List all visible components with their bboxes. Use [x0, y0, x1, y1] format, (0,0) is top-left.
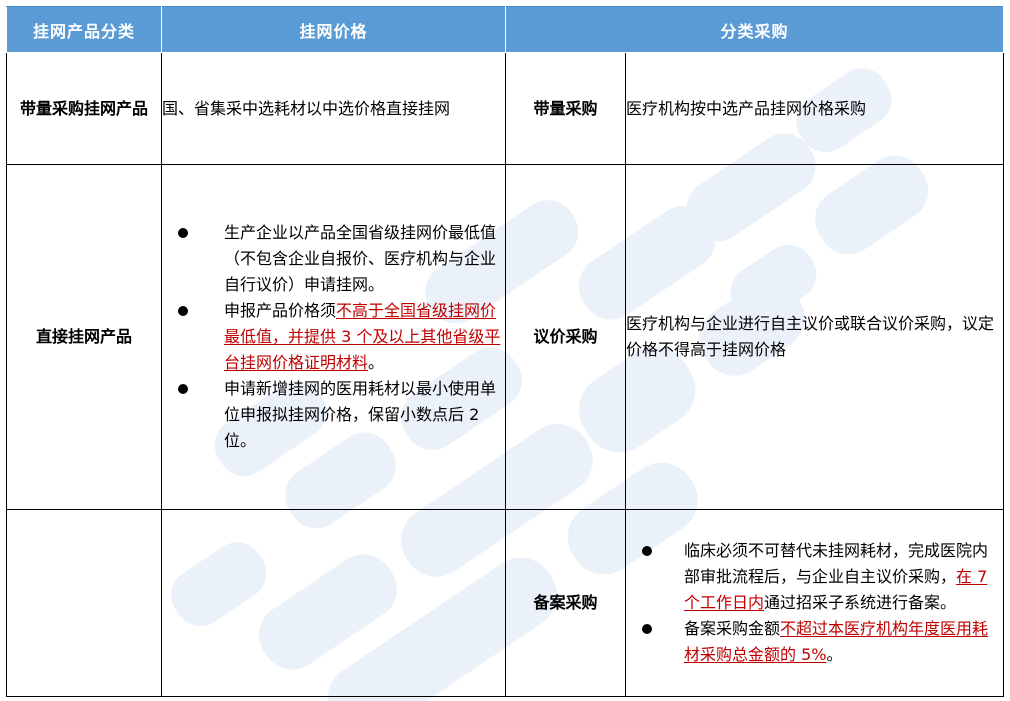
bullet-list: 生产企业以产品全国省级挂网价最低值（不包含企业自报价、医疗机构与企业自行议价）申… — [162, 220, 505, 453]
table-row: 带量采购挂网产品 国、省集采中选耗材以中选价格直接挂网 带量采购 医疗机构按中选… — [7, 53, 1004, 165]
row1-price-text: 国、省集采中选耗材以中选价格直接挂网 — [162, 53, 506, 165]
row3-category-label — [7, 510, 162, 697]
row1-procurement-label: 带量采购 — [506, 53, 626, 165]
row3-price-text — [162, 510, 506, 697]
list-item: 生产企业以产品全国省级挂网价最低值（不包含企业自报价、医疗机构与企业自行议价）申… — [162, 220, 505, 298]
header-cell-price: 挂网价格 — [162, 7, 506, 53]
row3-procurement-label: 备案采购 — [506, 510, 626, 697]
bullet-list: 临床必须不可替代未挂网耗材，完成医院内部审批流程后，与企业自主议价采购，在 7 … — [626, 538, 1003, 668]
body-text: 申请新增挂网的医用耗材以最小使用单位申报拟挂网价格，保留小数点后 2 位。 — [224, 379, 496, 450]
rules-table: 挂网产品分类 挂网价格 分类采购 带量采购挂网产品 国、省集采中选耗材以中选价格… — [6, 6, 1004, 697]
table-row: 直接挂网产品 生产企业以产品全国省级挂网价最低值（不包含企业自报价、医疗机构与企… — [7, 165, 1004, 510]
body-text: 。 — [826, 645, 842, 664]
row2-category-label: 直接挂网产品 — [7, 165, 162, 510]
list-item: 申报产品价格须不高于全国省级挂网价最低值，并提供 3 个及以上其他省级平台挂网价… — [162, 298, 505, 376]
list-item: 备案采购金额不超过本医疗机构年度医用耗材采购总金额的 5%。 — [626, 616, 1003, 668]
body-text: 申报产品价格须 — [224, 301, 336, 320]
row1-procurement-text: 医疗机构按中选产品挂网价格采购 — [626, 53, 1004, 165]
list-item: 临床必须不可替代未挂网耗材，完成医院内部审批流程后，与企业自主议价采购，在 7 … — [626, 538, 1003, 616]
body-text: 。 — [368, 353, 384, 372]
body-text: 临床必须不可替代未挂网耗材，完成医院内部审批流程后，与企业自主议价采购， — [684, 541, 988, 586]
rules-table-container: 挂网产品分类 挂网价格 分类采购 带量采购挂网产品 国、省集采中选耗材以中选价格… — [6, 6, 1003, 695]
body-text: 生产企业以产品全国省级挂网价最低值（不包含企业自报价、医疗机构与企业自行议价）申… — [224, 223, 496, 294]
row2-procurement-label: 议价采购 — [506, 165, 626, 510]
header-cell-procurement: 分类采购 — [506, 7, 1004, 53]
body-text: 通过招采子系统进行备案。 — [764, 593, 956, 612]
table-row: 备案采购 临床必须不可替代未挂网耗材，完成医院内部审批流程后，与企业自主议价采购… — [7, 510, 1004, 697]
header-cell-category: 挂网产品分类 — [7, 7, 162, 53]
table-header-row: 挂网产品分类 挂网价格 分类采购 — [7, 7, 1004, 53]
list-item: 申请新增挂网的医用耗材以最小使用单位申报拟挂网价格，保留小数点后 2 位。 — [162, 376, 505, 454]
row3-procurement-bullets: 临床必须不可替代未挂网耗材，完成医院内部审批流程后，与企业自主议价采购，在 7 … — [626, 510, 1004, 697]
row2-procurement-text: 医疗机构与企业进行自主议价或联合议价采购，议定价格不得高于挂网价格 — [626, 165, 1004, 510]
body-text: 备案采购金额 — [684, 619, 780, 638]
row1-category-label: 带量采购挂网产品 — [7, 53, 162, 165]
row2-price-bullets: 生产企业以产品全国省级挂网价最低值（不包含企业自报价、医疗机构与企业自行议价）申… — [162, 165, 506, 510]
